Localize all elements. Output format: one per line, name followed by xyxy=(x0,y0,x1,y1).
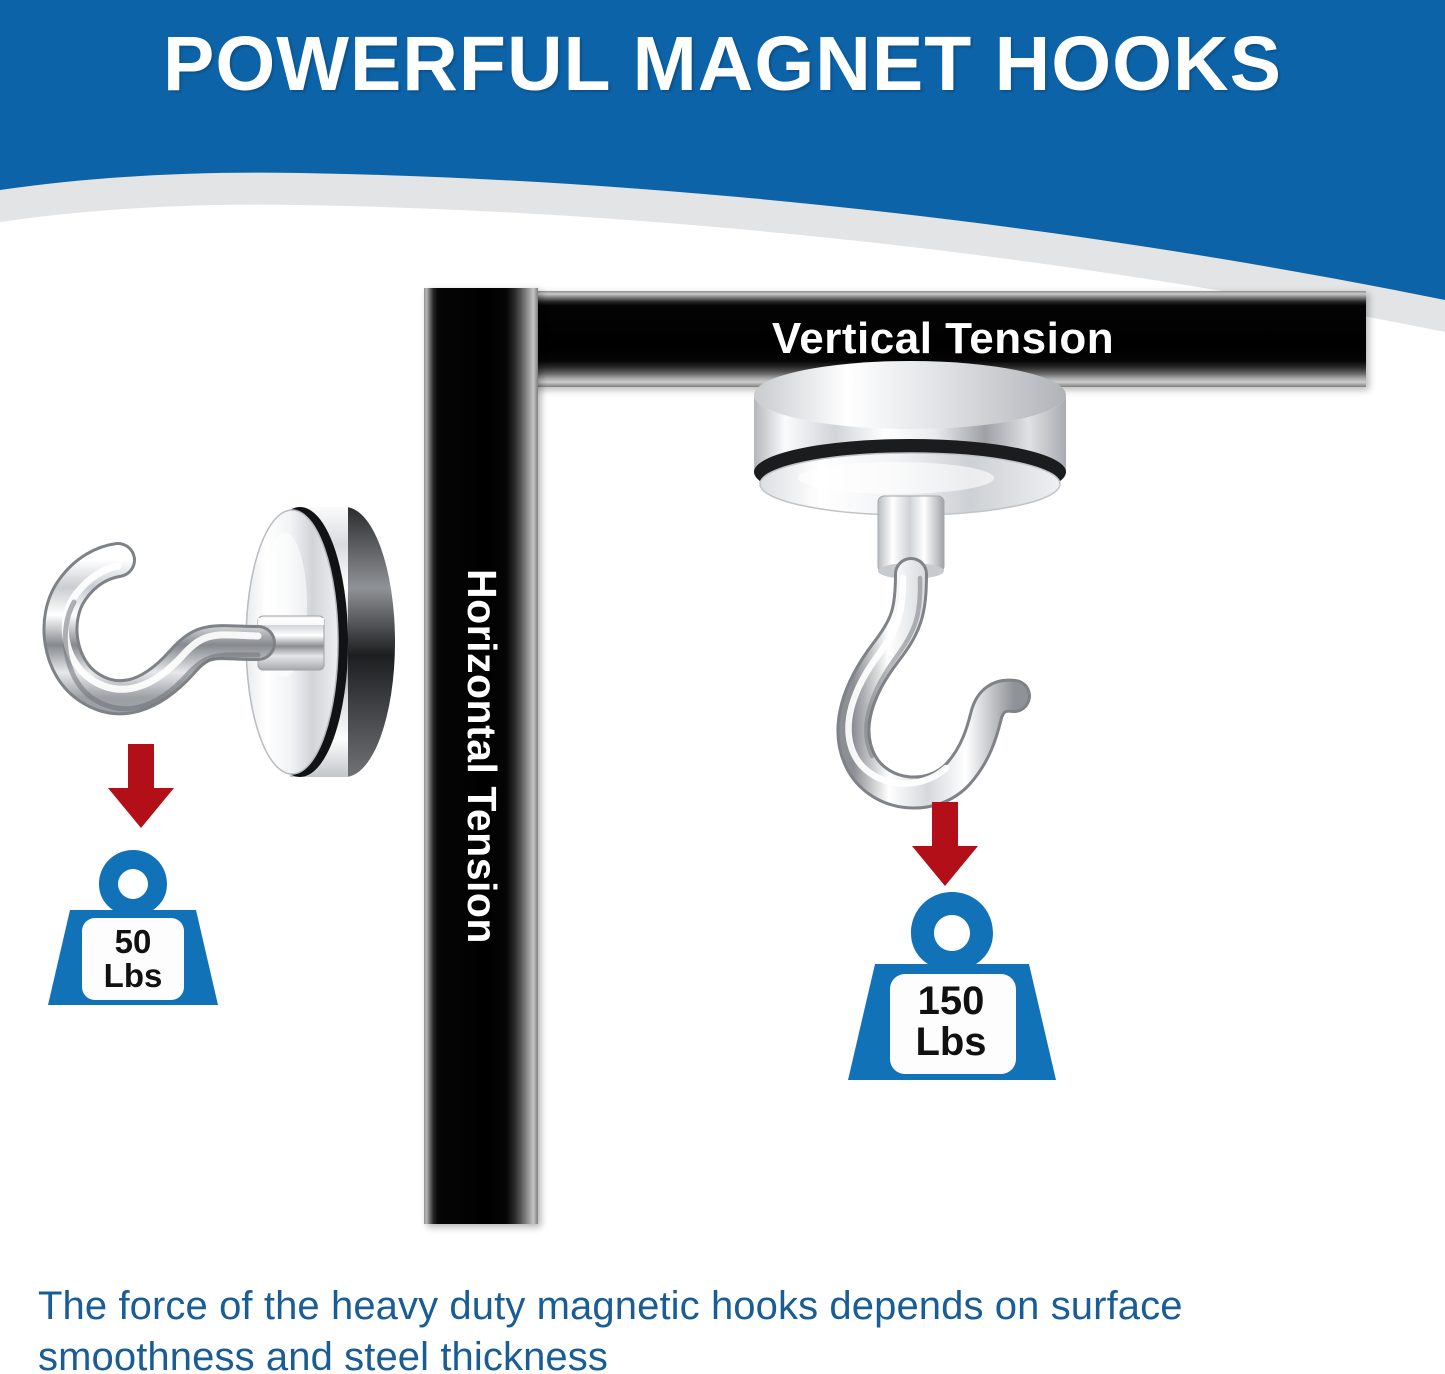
caption-text: The force of the heavy duty magnetic hoo… xyxy=(38,1281,1408,1374)
weight-150lbs: 150 Lbs xyxy=(846,890,1058,1089)
weight-icon xyxy=(46,848,220,1008)
down-arrow-icon xyxy=(908,800,982,888)
down-arrow-icon xyxy=(104,742,178,830)
magnet-bottom-highlight xyxy=(798,462,994,494)
product-infographic: POWERFUL MAGNET HOOKS Vertical Tension H… xyxy=(0,0,1445,1374)
weight-icon xyxy=(846,890,1058,1084)
side-mount-magnet-hook-icon xyxy=(0,430,460,850)
weight-label-plate xyxy=(890,974,1016,1074)
weight-label-plate xyxy=(82,918,184,1000)
ceiling-mount-magnet-hook-icon xyxy=(700,360,1120,860)
magnet-top-face xyxy=(754,361,1066,429)
page-title-container: POWERFUL MAGNET HOOKS xyxy=(0,14,1445,114)
weight-50lbs: 50 Lbs xyxy=(46,848,220,1013)
page-title: POWERFUL MAGNET HOOKS xyxy=(163,26,1282,103)
hook-collar-highlight xyxy=(258,618,324,625)
down-arrow-shape xyxy=(108,744,174,828)
down-arrow-shape xyxy=(912,802,978,886)
